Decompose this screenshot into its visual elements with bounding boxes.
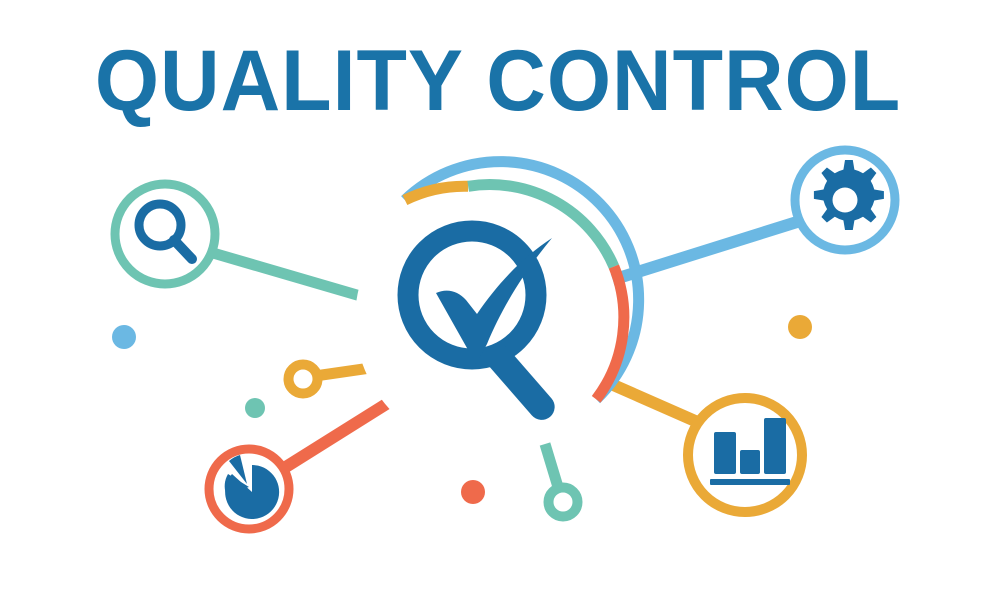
node-statistics[interactable] [688, 398, 802, 512]
connector-node-teal-ring [549, 488, 578, 517]
link-inspection-to-hub [213, 253, 381, 302]
decor-dot-teal [245, 398, 265, 418]
quality-control-diagram [0, 0, 996, 598]
decor-dot-yellow [788, 315, 812, 339]
node-inspection-ring [115, 184, 215, 284]
connector-node-yellow[interactable] [289, 365, 318, 394]
link-teal-node-to-hub [545, 444, 558, 487]
link-hub-to-statistics [602, 380, 702, 424]
decor-dot-blue [112, 325, 136, 349]
node-process-settings[interactable] [795, 150, 895, 250]
gear-icon [814, 160, 884, 230]
node-inspection[interactable] [115, 184, 215, 284]
decor-dot-orange [461, 480, 485, 504]
connector-node-yellow-ring [289, 365, 318, 394]
node-analysis[interactable] [209, 449, 289, 529]
quality-control-hub[interactable] [355, 162, 639, 452]
link-analysis-to-hub [281, 396, 399, 470]
connector-node-teal[interactable] [549, 488, 578, 517]
illustration-canvas: QUALITY CONTROL [0, 0, 996, 598]
